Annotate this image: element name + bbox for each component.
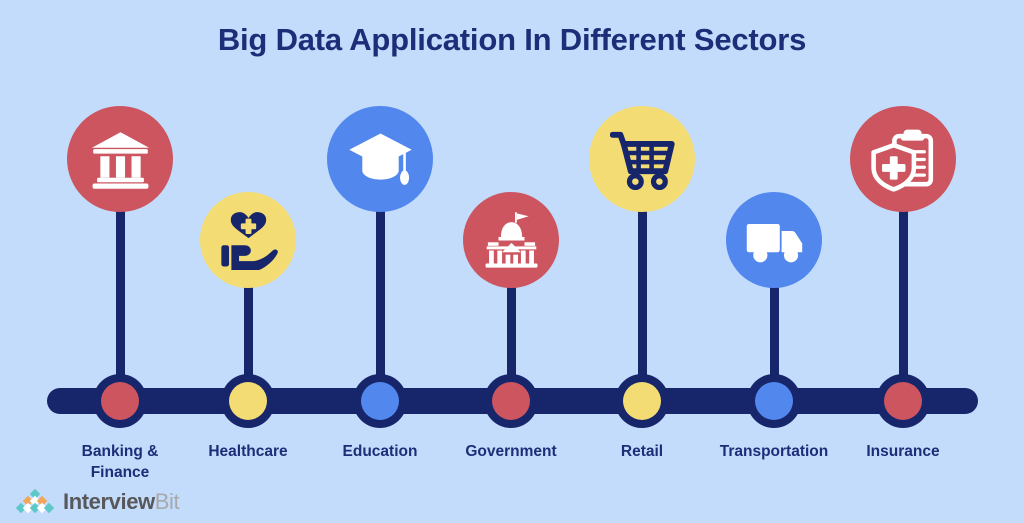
brand-word-primary: Interview	[63, 489, 155, 514]
timeline-node-dot	[492, 382, 530, 420]
shopping-cart-icon	[610, 127, 675, 192]
timeline-node-banking-finance[interactable]	[93, 374, 147, 428]
delivery-truck-icon	[745, 211, 804, 270]
brand-wordmark: InterviewBit	[63, 491, 179, 513]
timeline-node-retail[interactable]	[615, 374, 669, 428]
timeline-node-education[interactable]	[353, 374, 407, 428]
icon-bubble-banking-finance[interactable]	[67, 106, 173, 212]
brand-logo[interactable]: InterviewBit	[14, 489, 179, 515]
infographic-canvas: Big Data Application In Different Sector…	[0, 0, 1024, 523]
timeline-node-dot	[229, 382, 267, 420]
diamond-triangle-logo-icon	[14, 489, 56, 515]
capitol-building-icon	[482, 211, 541, 270]
icon-bubble-government[interactable]	[463, 192, 559, 288]
sector-label-insurance: Insurance	[803, 441, 1003, 462]
connector-stem	[116, 206, 125, 401]
page-title: Big Data Application In Different Sector…	[0, 22, 1024, 58]
timeline-node-dot	[884, 382, 922, 420]
timeline-node-dot	[623, 382, 661, 420]
connector-stem	[899, 206, 908, 401]
connector-stem	[376, 206, 385, 401]
clipboard-shield-icon	[871, 127, 936, 192]
icon-bubble-transportation[interactable]	[726, 192, 822, 288]
timeline-node-dot	[755, 382, 793, 420]
icon-bubble-retail[interactable]	[589, 106, 695, 212]
timeline-node-government[interactable]	[484, 374, 538, 428]
logo-diamond	[44, 503, 54, 513]
icon-bubble-insurance[interactable]	[850, 106, 956, 212]
timeline-node-transportation[interactable]	[747, 374, 801, 428]
timeline-node-insurance[interactable]	[876, 374, 930, 428]
connector-stem	[638, 206, 647, 401]
bank-icon	[88, 127, 153, 192]
timeline-node-dot	[101, 382, 139, 420]
timeline-node-dot	[361, 382, 399, 420]
timeline-node-healthcare[interactable]	[221, 374, 275, 428]
graduation-cap-icon	[348, 127, 413, 192]
icon-bubble-healthcare[interactable]	[200, 192, 296, 288]
icon-bubble-education[interactable]	[327, 106, 433, 212]
hand-heart-icon	[219, 211, 278, 270]
brand-word-secondary: Bit	[155, 489, 179, 514]
